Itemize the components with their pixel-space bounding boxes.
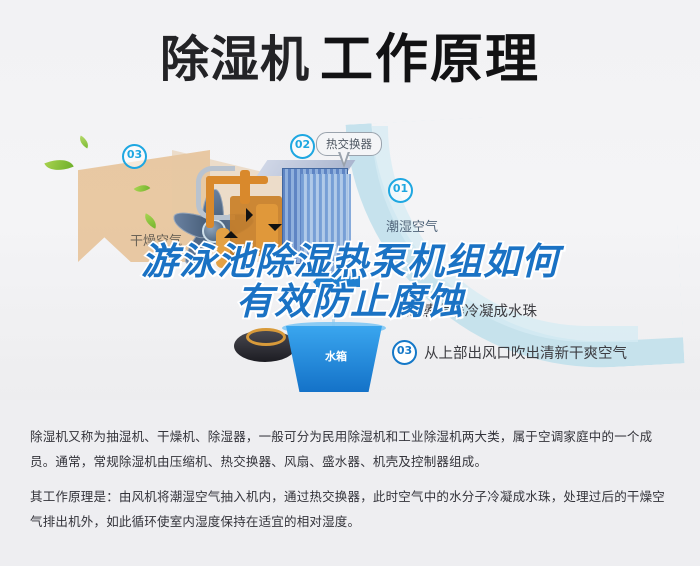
page-title-part1: 除湿机 [160, 35, 310, 84]
air-intake-arrow-icon [316, 276, 360, 287]
page-title-part2: 工作原理 [320, 33, 540, 86]
copper-tube [206, 176, 268, 184]
step3-caption: 从上部出风口吹出清新干爽空气 [424, 342, 627, 363]
infographic-card: 除湿机 工作原理 [0, 0, 700, 400]
infographic-page: 除湿机 工作原理 [0, 0, 700, 566]
marker-01: 01 [388, 178, 413, 203]
body-paragraph-2: 其工作原理是：由风机将潮湿空气抽入机内，通过热交换器，此时空气中的水分子冷凝成水… [30, 484, 670, 534]
leaf-icon [44, 154, 73, 177]
step2-caption: 经过蒸发器冷凝成水珠 [392, 300, 537, 321]
leaf-icon [77, 136, 91, 149]
water-tank-label: 水箱 [306, 348, 366, 364]
marker-02: 02 [290, 134, 315, 159]
step3-caption-row: 03 从上部出风口吹出清新干爽空气 [392, 340, 627, 365]
flow-arrow-right-icon [246, 208, 260, 222]
dry-air-label: 干燥空气 [130, 230, 182, 249]
body-text-block: 除湿机又称为抽湿机、干燥机、除湿器，一般可分为民用除湿机和工业除湿机两大类，属于… [0, 400, 700, 566]
heat-exchanger-fins [301, 174, 351, 278]
flow-arrow-down-icon [224, 224, 238, 238]
humid-air-label: 潮湿空气 [386, 216, 438, 235]
header-title: 除湿机 工作原理 [0, 26, 700, 92]
callout-pointer-icon [338, 152, 350, 168]
copper-tube [206, 176, 214, 228]
diagram-stage: 水箱 热交换器 03 02 01 干燥空气 潮湿空气 经过蒸发器冷凝成水珠 03… [0, 108, 700, 400]
body-paragraph-1: 除湿机又称为抽湿机、干燥机、除湿器，一般可分为民用除湿机和工业除湿机两大类，属于… [30, 424, 670, 474]
copper-tube [240, 170, 250, 204]
marker-03-right: 03 [392, 340, 417, 365]
marker-03-left: 03 [122, 144, 147, 169]
compressor-ring [246, 328, 286, 346]
flow-arrow-up-icon [268, 224, 282, 238]
